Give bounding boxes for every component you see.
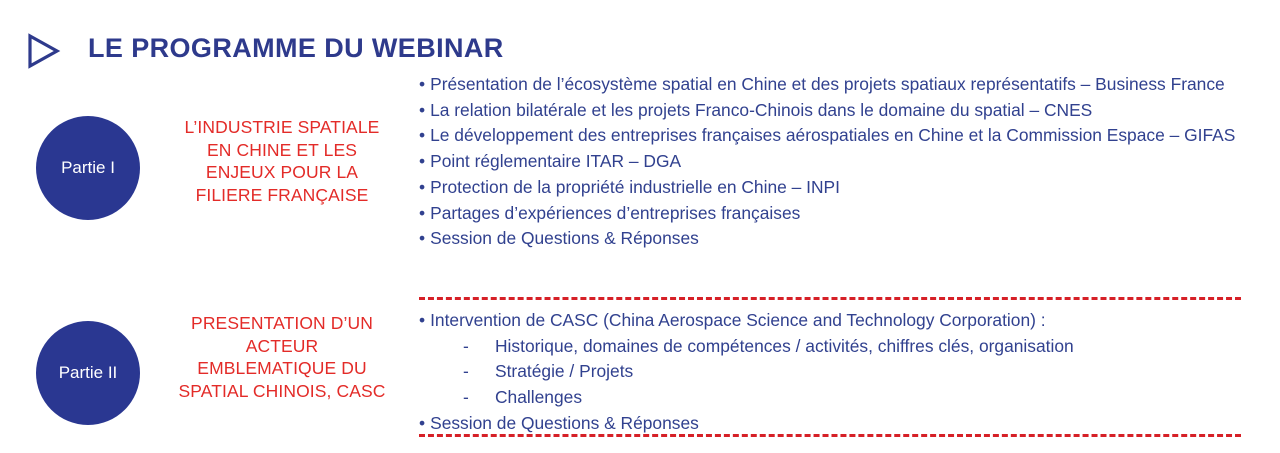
sub-list-item-text: Challenges xyxy=(463,385,582,411)
sub-list-item: -Historique, domaines de compétences / a… xyxy=(419,334,1249,360)
bullet-dot-icon: • xyxy=(419,413,425,433)
sub-list-item-text: Historique, domaines de compétences / ac… xyxy=(463,334,1074,360)
program-section-partie-2: Partie II PRESENTATION D’UN ACTEUR EMBLE… xyxy=(0,302,1280,453)
part-badge-circle: Partie II xyxy=(36,321,140,425)
dash-marker-icon: - xyxy=(463,385,469,411)
page-title: LE PROGRAMME DU WEBINAR xyxy=(88,33,504,64)
list-item: •La relation bilatérale et les projets F… xyxy=(419,98,1249,124)
sub-list-item-text: Stratégie / Projets xyxy=(463,359,633,385)
list-item: •Le développement des entreprises frança… xyxy=(419,123,1249,149)
slide-header: LE PROGRAMME DU WEBINAR xyxy=(0,14,1280,60)
part-badge-label: Partie II xyxy=(59,363,118,383)
bullet-dot-icon: • xyxy=(419,310,425,330)
list-item: •Session de Questions & Réponses xyxy=(419,411,1249,437)
section-divider xyxy=(419,297,1241,300)
bullet-dot-icon: • xyxy=(419,125,425,145)
list-item-text: Intervention de CASC (China Aerospace Sc… xyxy=(430,310,1045,330)
bullet-dot-icon: • xyxy=(419,74,425,94)
bullet-dot-icon: • xyxy=(419,203,425,223)
list-item-text: Présentation de l’écosystème spatial en … xyxy=(430,74,1225,94)
bullet-dot-icon: • xyxy=(419,151,425,171)
list-item: •Partages d’expériences d’entreprises fr… xyxy=(419,201,1249,227)
program-section-partie-1: Partie I L’INDUSTRIE SPATIALE EN CHINE E… xyxy=(0,72,1280,302)
list-item: •Protection de la propriété industrielle… xyxy=(419,175,1249,201)
list-item: •Session de Questions & Réponses xyxy=(419,226,1249,252)
bullet-dot-icon: • xyxy=(419,100,425,120)
list-item-text: La relation bilatérale et les projets Fr… xyxy=(430,100,1092,120)
list-item-text: Session de Questions & Réponses xyxy=(430,228,699,248)
list-item: •Présentation de l’écosystème spatial en… xyxy=(419,72,1249,98)
bullet-dot-icon: • xyxy=(419,177,425,197)
bullet-dot-icon: • xyxy=(419,228,425,248)
part-badge-label: Partie I xyxy=(61,158,115,178)
sub-list-item: -Stratégie / Projets xyxy=(419,359,1249,385)
dash-marker-icon: - xyxy=(463,334,469,360)
list-item: •Intervention de CASC (China Aerospace S… xyxy=(419,308,1249,334)
dash-marker-icon: - xyxy=(463,359,469,385)
list-item-text: Protection de la propriété industrielle … xyxy=(430,177,840,197)
list-item-text: Le développement des entreprises françai… xyxy=(430,125,1235,145)
part-heading: PRESENTATION D’UN ACTEUR EMBLEMATIQUE DU… xyxy=(176,312,388,402)
list-item-text: Partages d’expériences d’entreprises fra… xyxy=(430,203,800,223)
program-item-list: •Intervention de CASC (China Aerospace S… xyxy=(419,308,1249,437)
list-item-text: Point réglementaire ITAR – DGA xyxy=(430,151,681,171)
sub-list-item: -Challenges xyxy=(419,385,1249,411)
program-item-list: •Présentation de l’écosystème spatial en… xyxy=(419,72,1249,252)
play-triangle-icon xyxy=(24,32,62,70)
list-item: •Point réglementaire ITAR – DGA xyxy=(419,149,1249,175)
list-item-text: Session de Questions & Réponses xyxy=(430,413,699,433)
part-heading: L’INDUSTRIE SPATIALE EN CHINE ET LES ENJ… xyxy=(176,116,388,206)
part-badge-circle: Partie I xyxy=(36,116,140,220)
section-divider xyxy=(419,434,1241,437)
